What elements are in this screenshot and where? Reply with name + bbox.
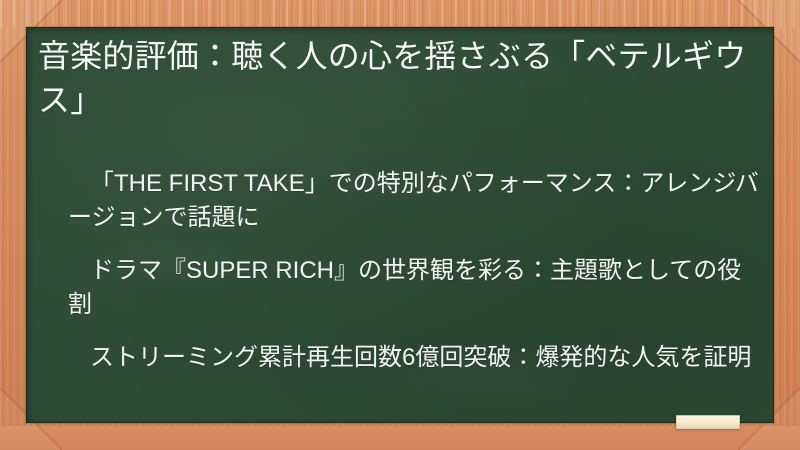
list-item: ストリーミング累計再生回数6億回突破：爆発的な人気を証明 (38, 341, 764, 375)
chalk-eraser (676, 415, 740, 429)
chalkboard-content: 音楽的評価：聴く人の心を揺さぶる「ベテルギウス」 「THE FIRST TAKE… (26, 27, 774, 423)
slide-canvas: 音楽的評価：聴く人の心を揺さぶる「ベテルギウス」 「THE FIRST TAKE… (0, 0, 800, 450)
list-item: ドラマ『SUPER RICH』の世界観を彩る：主題歌としての役割 (38, 254, 764, 322)
chalkboard-surface: 音楽的評価：聴く人の心を揺さぶる「ベテルギウス」 「THE FIRST TAKE… (26, 27, 774, 423)
slide-title: 音楽的評価：聴く人の心を揺さぶる「ベテルギウス」 (38, 34, 762, 122)
frame-top-grain (0, 0, 800, 28)
frame-bottom-tray (0, 426, 800, 450)
list-item: 「THE FIRST TAKE」での特別なパフォーマンス：アレンジバージョンで話… (38, 167, 764, 235)
slide-bullet-list: 「THE FIRST TAKE」での特別なパフォーマンス：アレンジバージョンで話… (38, 167, 764, 375)
